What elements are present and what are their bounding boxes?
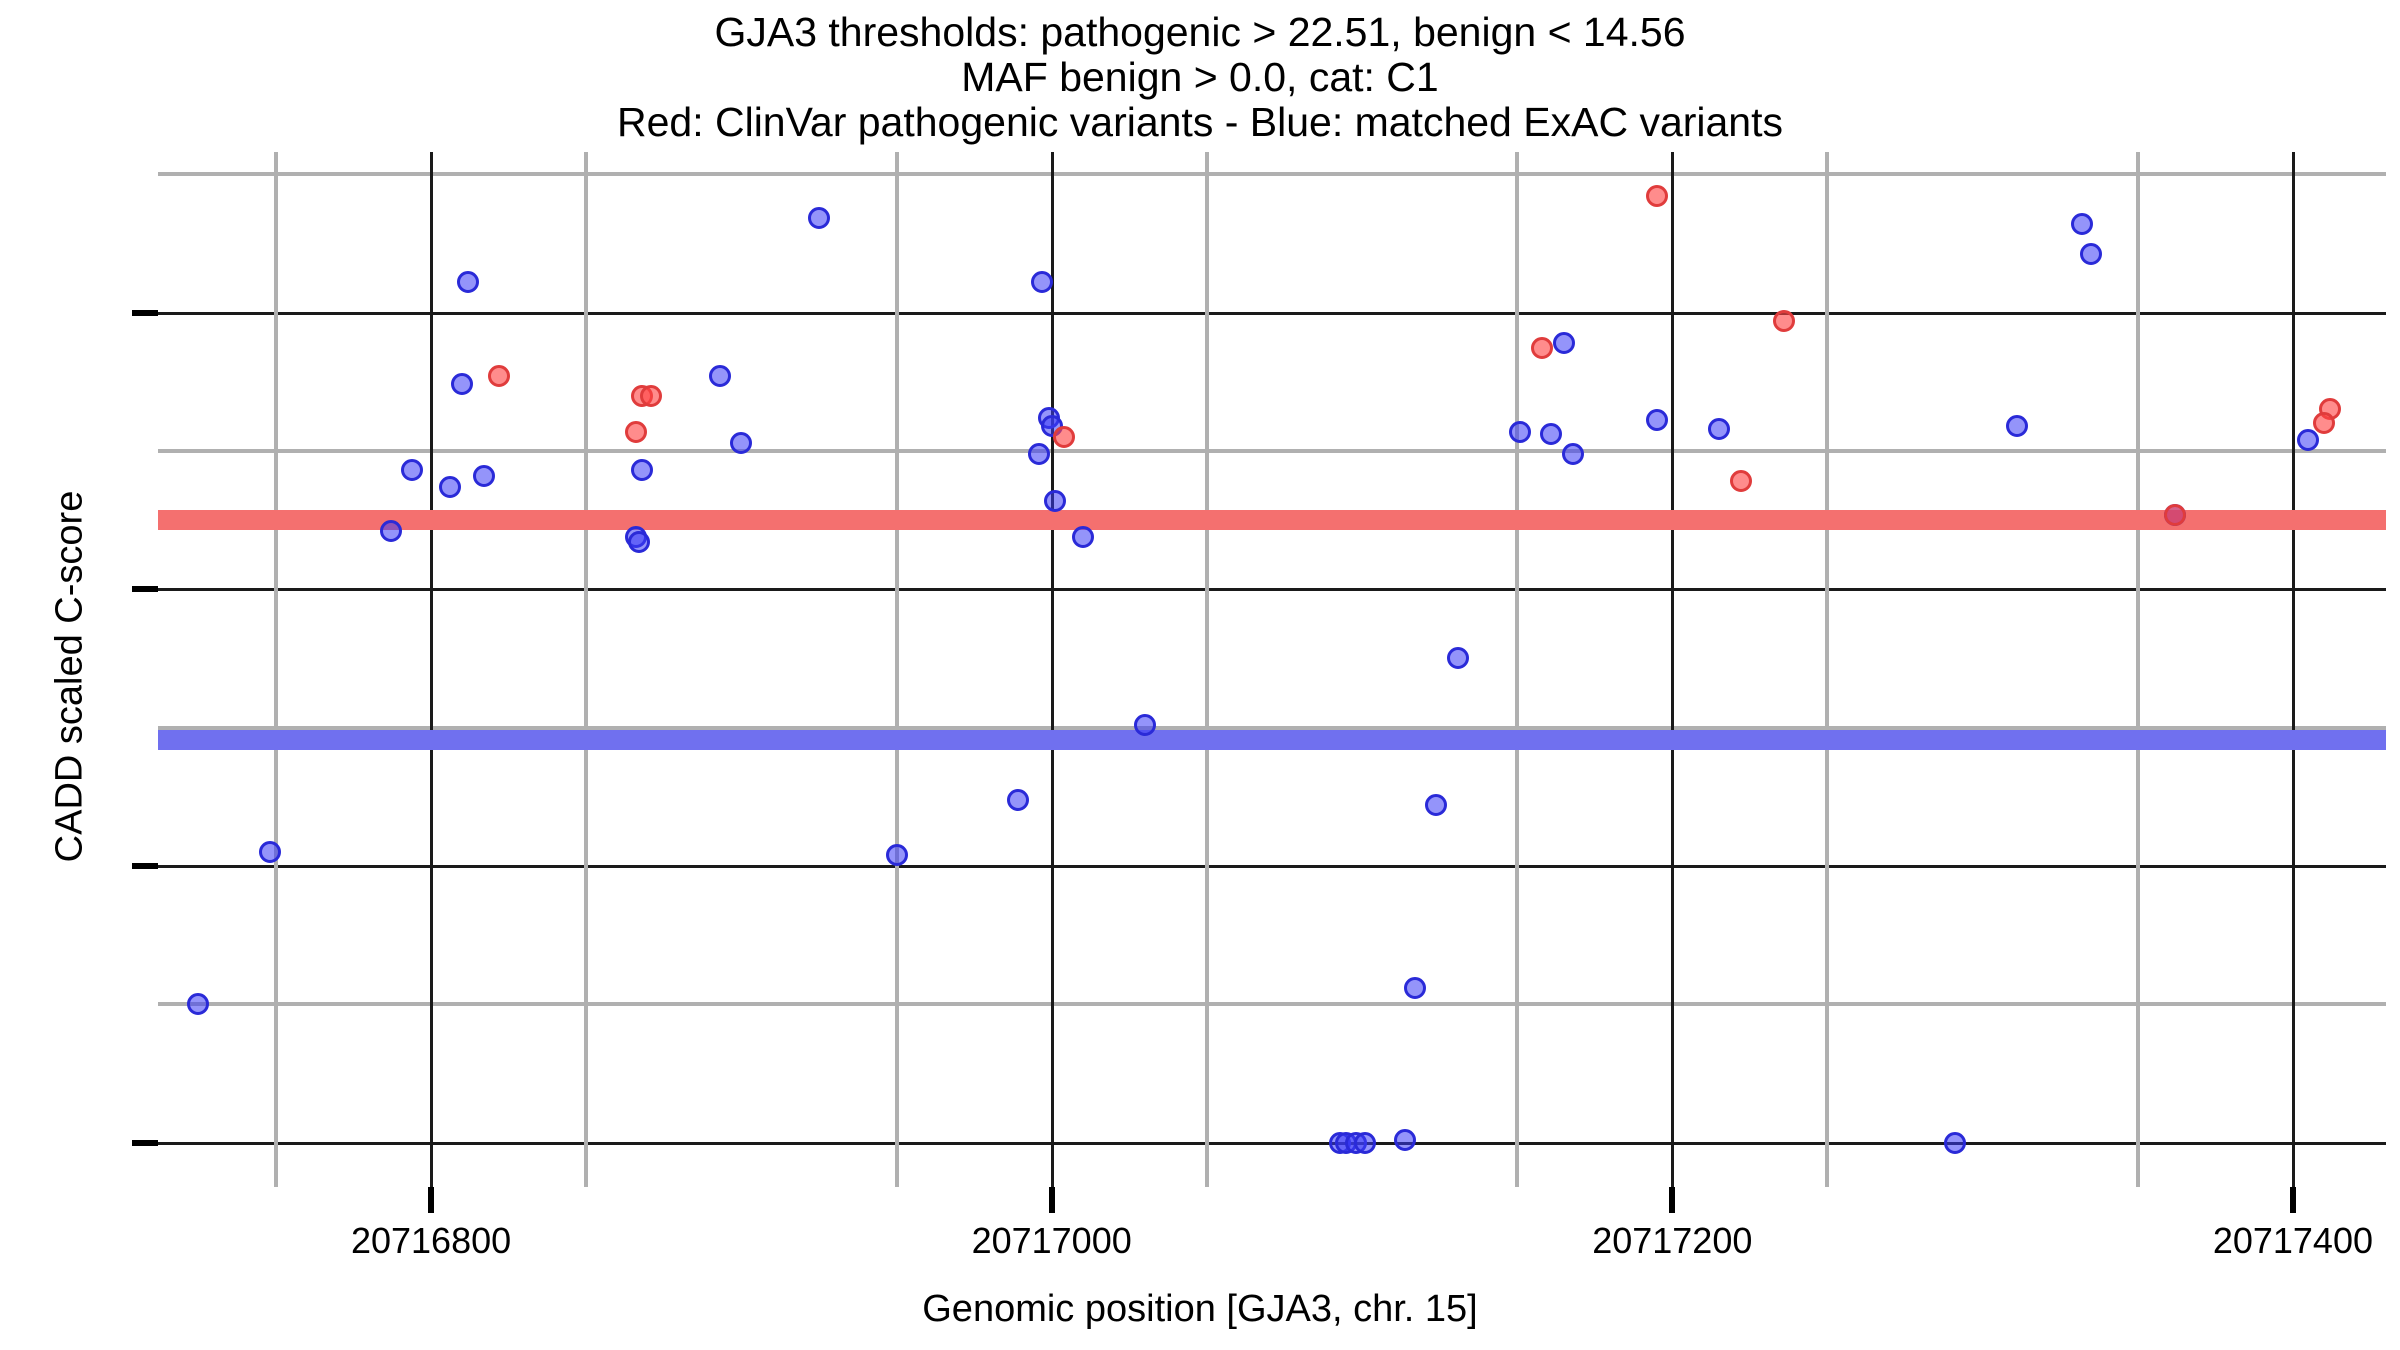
x-tick — [2290, 1187, 2296, 1213]
data-point-red[interactable] — [1646, 185, 1668, 207]
axis-line-horizontal — [158, 588, 2386, 591]
y-tick — [132, 863, 158, 869]
data-point-blue[interactable] — [2006, 415, 2028, 437]
data-point-blue[interactable] — [1447, 647, 1469, 669]
plot-area: 010203020716800207170002071720020717400 — [158, 152, 2386, 1187]
data-point-red[interactable] — [625, 421, 647, 443]
data-point-blue[interactable] — [1007, 789, 1029, 811]
data-point-blue[interactable] — [187, 993, 209, 1015]
data-point-blue[interactable] — [1646, 409, 1668, 431]
data-point-blue[interactable] — [2297, 429, 2319, 451]
x-tick-label: 20717200 — [1502, 1220, 1842, 1262]
axis-line-horizontal — [158, 1142, 2386, 1145]
axis-line-vertical — [1051, 152, 1054, 1187]
x-tick — [428, 1187, 434, 1213]
plot-clip — [158, 152, 2386, 1187]
gridline-horizontal — [158, 172, 2386, 176]
data-point-blue[interactable] — [473, 465, 495, 487]
x-tick-label: 20717400 — [2123, 1220, 2400, 1262]
chart-title: GJA3 thresholds: pathogenic > 22.51, ben… — [0, 10, 2400, 145]
data-point-blue[interactable] — [1553, 332, 1575, 354]
data-point-blue[interactable] — [730, 432, 752, 454]
x-tick-label: 20716800 — [261, 1220, 601, 1262]
data-point-blue[interactable] — [401, 459, 423, 481]
chart-root: GJA3 thresholds: pathogenic > 22.51, ben… — [0, 0, 2400, 1350]
data-point-blue[interactable] — [1509, 421, 1531, 443]
threshold-line-pathogenic — [158, 510, 2386, 530]
data-point-blue[interactable] — [451, 373, 473, 395]
gridline-vertical — [1515, 152, 1519, 1187]
data-point-red[interactable] — [1053, 426, 1075, 448]
axis-line-vertical — [430, 152, 433, 1187]
data-point-blue[interactable] — [1044, 490, 1066, 512]
data-point-red[interactable] — [1531, 337, 1553, 359]
data-point-blue[interactable] — [709, 365, 731, 387]
data-point-blue[interactable] — [259, 841, 281, 863]
axis-line-vertical — [1671, 152, 1674, 1187]
data-point-red[interactable] — [640, 385, 662, 407]
data-point-blue[interactable] — [886, 844, 908, 866]
data-point-blue[interactable] — [808, 207, 830, 229]
data-point-blue[interactable] — [1134, 714, 1156, 736]
y-tick — [132, 1140, 158, 1146]
x-axis-label: Genomic position [GJA3, chr. 15] — [0, 1288, 2400, 1331]
y-tick — [132, 586, 158, 592]
data-point-blue[interactable] — [1562, 443, 1584, 465]
gridline-horizontal — [158, 449, 2386, 453]
data-point-blue[interactable] — [1944, 1132, 1966, 1154]
data-point-blue[interactable] — [457, 271, 479, 293]
data-point-blue[interactable] — [1028, 443, 1050, 465]
data-point-blue[interactable] — [380, 520, 402, 542]
data-point-blue[interactable] — [1425, 794, 1447, 816]
data-point-red[interactable] — [1773, 310, 1795, 332]
gridline-vertical — [2136, 152, 2140, 1187]
data-point-blue[interactable] — [1404, 977, 1426, 999]
axis-line-horizontal — [158, 312, 2386, 315]
data-point-blue[interactable] — [1354, 1132, 1376, 1154]
data-point-blue[interactable] — [628, 531, 650, 553]
x-tick — [1669, 1187, 1675, 1213]
data-point-blue[interactable] — [1708, 418, 1730, 440]
y-axis-label: CADD scaled C-score — [49, 327, 92, 1027]
x-tick-label: 20717000 — [882, 1220, 1222, 1262]
axis-line-vertical — [2292, 152, 2295, 1187]
title-line-3: Red: ClinVar pathogenic variants - Blue:… — [0, 100, 2400, 145]
title-line-1: GJA3 thresholds: pathogenic > 22.51, ben… — [0, 10, 2400, 55]
data-point-blue[interactable] — [2080, 243, 2102, 265]
axis-line-horizontal — [158, 865, 2386, 868]
gridline-vertical — [895, 152, 899, 1187]
data-point-red[interactable] — [2164, 504, 2186, 526]
gridline-vertical — [1205, 152, 1209, 1187]
gridline-vertical — [584, 152, 588, 1187]
data-point-red[interactable] — [1730, 470, 1752, 492]
threshold-line-benign — [158, 730, 2386, 750]
data-point-red[interactable] — [2313, 412, 2335, 434]
x-tick — [1049, 1187, 1055, 1213]
gridline-horizontal — [158, 1002, 2386, 1006]
data-point-blue[interactable] — [2071, 213, 2093, 235]
title-line-2: MAF benign > 0.0, cat: C1 — [0, 55, 2400, 100]
y-tick — [132, 310, 158, 316]
gridline-vertical — [1825, 152, 1829, 1187]
data-point-blue[interactable] — [1394, 1129, 1416, 1151]
data-point-blue[interactable] — [1072, 526, 1094, 548]
data-point-red[interactable] — [488, 365, 510, 387]
gridline-vertical — [274, 152, 278, 1187]
data-point-blue[interactable] — [439, 476, 461, 498]
data-point-blue[interactable] — [631, 459, 653, 481]
data-point-blue[interactable] — [1540, 423, 1562, 445]
